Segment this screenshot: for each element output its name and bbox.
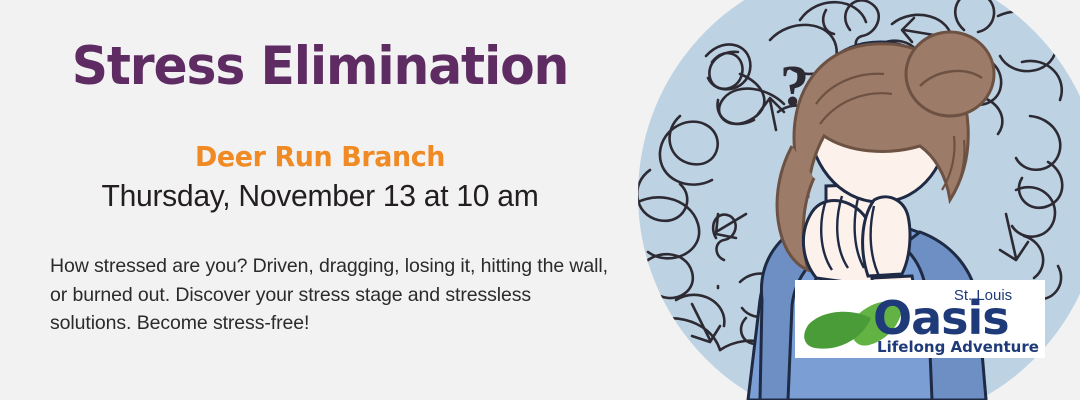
- hair-bun: [906, 32, 994, 116]
- banner-text-block: Stress Elimination Deer Run Branch Thurs…: [0, 0, 640, 400]
- logo-wordmark: Oasis: [873, 291, 1009, 345]
- event-description: How stressed are you? Driven, dragging, …: [50, 252, 610, 338]
- branch-name: Deer Run Branch: [13, 140, 627, 173]
- event-promo-banner: ?: [0, 0, 1080, 400]
- page-title: Stress Elimination: [16, 36, 624, 97]
- logo-tagline: Lifelong Adventure: [877, 338, 1039, 356]
- st-louis-oasis-logo: St. Louis Oasis Lifelong Adventure: [795, 280, 1045, 358]
- event-datetime: Thursday, November 13 at 10 am: [10, 178, 631, 214]
